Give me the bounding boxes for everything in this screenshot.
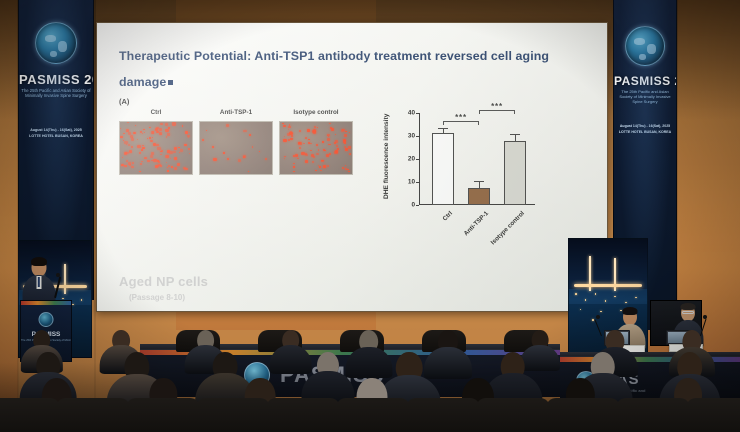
fluorescent-cell-dot [348,171,349,172]
pasmiss-globe-icon [625,26,665,66]
banner-left-venue: LOTTE HOTEL BUSAN, KOREA [21,134,91,139]
fluorescent-cell-dot [140,163,142,164]
fluorescent-cell-dot [177,163,180,166]
significance-stars-0: *** [443,114,479,121]
fluorescent-cell-dot [327,165,329,167]
y-axis-tick [416,182,420,183]
fluorescent-cell-dot [172,122,176,125]
fluorescent-cell-dot [313,129,316,132]
audience-chair [0,398,60,432]
fluorescent-cell-dot [298,142,301,145]
y-axis-line [419,113,420,205]
chart-bar-isotype-control [504,141,526,205]
pasmiss-globe-icon [35,22,77,64]
audience-chair [406,398,480,432]
chairperson-right-hair [681,303,696,310]
fluorescent-cell-dot [295,154,298,157]
fluorescent-cell-dot [311,154,315,157]
micrograph-label-0: Ctrl [119,109,193,116]
fluorescent-cell-dot [182,125,184,126]
banner-right-subtitle: The 25th Pacific and Asian Society of Mi… [616,89,674,104]
fluorescent-cell-dot [142,147,145,149]
panel-letter-a: (A) [119,97,129,106]
fluorescent-cell-dot [153,159,157,162]
fluorescent-cell-dot [151,152,154,154]
fluorescent-cell-dot [155,165,158,168]
fluorescent-cell-dot [248,171,249,172]
podium-color-stripe [21,301,71,305]
micrograph-label-1: Anti-TSP-1 [199,109,273,116]
fluorescent-cell-dot [150,155,153,157]
fluorescent-cell-dot [312,161,314,162]
fluorescent-cell-dot [297,158,299,160]
fluorescent-cell-dot [160,154,161,155]
fluorescent-cell-dot [157,147,160,150]
aged-np-cells-label: Aged NP cells [119,274,208,289]
chart-bar-ctrl [432,133,454,205]
fluorescent-cell-dot [174,157,177,160]
banner-right-title: PASMISS 2025 [614,74,676,88]
podium-microphone-head [56,273,60,277]
fluorescent-cell-dot [120,136,123,138]
fluorescent-cell-dot [131,138,134,141]
banner-left-date: August 14(Thu) - 16(Sat), 2025 [21,128,91,133]
fluorescent-cell-dot [329,153,331,154]
banner-right-venue: LOTTE HOTEL BUSAN, KOREA [616,130,674,135]
fluorescent-cell-dot [174,147,177,150]
fluorescent-cell-dot [323,165,326,168]
conference-hall-photo: PASMISS 2025 The 25th Pacific and Asian … [0,0,740,432]
fluorescent-cell-dot [153,143,156,146]
audience-chair [546,398,620,432]
dhe-bar-chart: DHE fluorescence intensity 010203040Ctrl… [385,99,575,244]
micrograph-image-anti-tsp1 [199,121,273,175]
fluorescent-cell-dot [158,164,161,166]
fluorescent-cell-dot [166,155,169,158]
slide-title-line2: damage [119,75,166,89]
fluorescent-cell-dot [305,160,308,163]
fluorescent-cell-dot [165,129,169,132]
table-microphone-head-left [596,315,600,319]
fluorescent-cell-dot [327,134,329,136]
chart-bar-anti-tsp-1 [468,188,490,205]
chart-error-cap [474,181,484,182]
fluorescent-cell-dot [290,138,292,140]
fluorescent-cell-dot [345,168,347,169]
fluorescent-cell-dot [322,141,324,142]
banner-right-date: August 14(Thu) - 16(Sat), 2025 [616,124,674,129]
fluorescent-cell-dot [327,138,330,141]
fluorescent-cell-dot [290,131,292,133]
y-axis-tick [416,113,420,114]
chart-error-cap [438,128,448,129]
presentation-slide: Therapeutic Potential: Anti-TSP1 antibod… [97,23,607,311]
fluorescent-cell-dot [149,137,151,139]
y-axis-tick-label: 0 [411,202,415,209]
table-microphone-head-right [703,315,707,319]
fluorescent-cell-dot [329,123,331,124]
y-axis-tick-label: 20 [408,156,415,163]
chart-error-cap [510,134,520,135]
fluorescent-cell-dot [174,167,177,170]
fluorescent-cell-dot [161,150,162,151]
chart-plot-area: 010203040CtrlAnti-TSP-1Isotype control**… [419,113,527,205]
audience-chair [266,398,340,432]
fluorescent-cell-dot [167,170,169,171]
y-axis-tick-label: 40 [408,110,415,117]
fluorescent-cell-dot [167,133,170,135]
fluorescent-cell-dot [307,129,310,131]
projection-screen: Therapeutic Potential: Anti-TSP1 antibod… [96,22,608,312]
fluorescent-cell-dot [293,166,295,167]
audience-chair [686,398,740,432]
fluorescent-cell-dot [173,151,176,153]
fluorescent-cell-dot [184,144,186,146]
chairperson-glasses-icon [682,311,694,314]
fluorescent-cell-dot [160,123,163,126]
fluorescent-cell-dot [305,154,308,156]
podium-pasmiss-logo-icon [39,312,54,327]
fluorescent-cell-dot [336,145,338,146]
fluorescent-cell-dot [180,149,183,152]
banner-left-subtitle: The 25th Pacific and Asian Society of Mi… [21,88,91,99]
fluorescent-cell-dot [265,158,267,160]
fluorescent-cell-dot [243,130,246,133]
fluorescent-cell-dot [223,152,225,154]
speaker-at-podium [22,258,56,302]
fluorescent-cell-dot [165,123,168,126]
slide-title-line1: Therapeutic Potential: Anti-TSP1 antibod… [119,49,549,63]
chairperson-left-hair [623,307,638,315]
fluorescent-cell-dot [308,142,311,144]
y-axis-tick [416,159,420,160]
passage-label: (Passage 8-10) [129,293,185,302]
audience-chair [616,398,690,432]
audience-chair [196,398,270,432]
fluorescent-cell-dot [293,163,294,164]
fluorescent-cell-dot [335,150,338,153]
chart-error-bar [479,181,480,189]
micrograph-image-ctrl [119,121,193,175]
speaker-hair [31,257,47,266]
fluorescent-cell-dot [284,136,285,137]
banner-left-title: PASMISS 2025 [19,72,93,87]
fluorescent-cell-dot [167,150,170,152]
fluorescent-cell-dot [226,124,229,127]
fluorescent-cell-dot [137,145,140,148]
audience-chair [126,398,200,432]
fluorescent-cell-dot [128,132,131,135]
fluorescent-cell-dot [348,146,351,148]
fluorescent-cell-dot [123,140,124,141]
fluorescent-cell-dot [284,156,285,157]
micrograph-image-isotype [279,121,353,175]
fluorescent-cell-dot [152,131,155,133]
fluorescent-cell-dot [345,148,348,150]
fluorescent-cell-dot [129,150,132,153]
y-axis-tick [416,136,420,137]
fluorescent-cell-dot [344,134,348,137]
audience-chair [476,398,550,432]
fluorescent-cell-dot [282,123,284,124]
fluorescent-cell-dot [335,134,336,135]
fluorescent-cell-dot [125,152,128,154]
fluorescent-cell-dot [291,135,293,137]
fluorescent-cell-dot [213,158,217,161]
fluorescent-cell-dot [139,152,141,154]
fluorescent-cell-dot [159,128,162,130]
y-axis-tick-label: 10 [408,179,415,186]
audience-chair [56,398,130,432]
fluorescent-cell-dot [124,165,127,167]
fluorescent-cell-dot [342,129,344,131]
y-axis-tick-label: 30 [408,133,415,140]
fluorescent-cell-dot [283,139,287,142]
fluorescent-cell-dot [139,171,140,172]
y-axis-tick [416,205,420,206]
slide-title: Therapeutic Potential: Anti-TSP1 antibod… [119,43,559,95]
title-bullet-square-icon [168,80,173,85]
chart-y-axis-title: DHE fluorescence intensity [383,115,390,199]
audience-chair [336,398,410,432]
significance-stars-1: *** [479,103,515,110]
fluorescent-cell-dot [331,128,334,130]
micrograph-label-2: Isotype control [279,109,353,116]
fluorescent-cell-dot [337,148,339,150]
fluorescent-cell-dot [299,147,300,148]
fluorescent-cell-dot [316,144,318,146]
